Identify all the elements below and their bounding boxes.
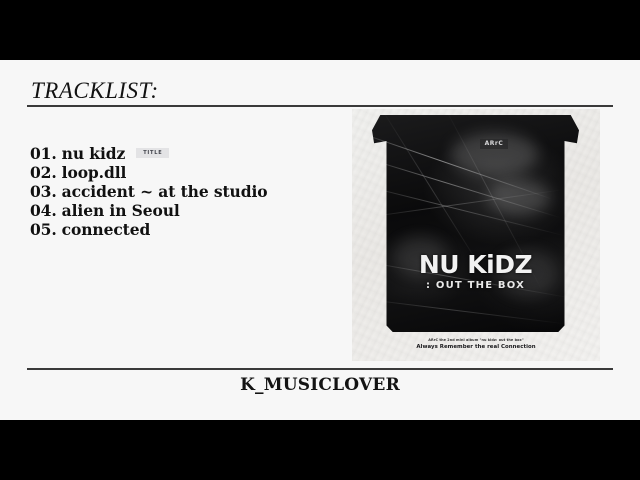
album-subtitle: : OUT THE BOX [372,280,579,291]
track-title: connected [62,220,151,239]
album-title: NU KiDZ [372,252,579,277]
track-title: alien in Seoul [62,201,180,220]
caption-tagline: Always Remember the real Connection [352,344,600,352]
track-title: accident ~ at the studio [62,182,268,201]
letterbox-bar-bottom [0,420,640,480]
caption-release-info: ARrC the 2nd mini album "nu kidz: out th… [352,338,600,343]
track-item[interactable]: 01. nu kidz TITLE [30,144,268,163]
letterbox-bar-top [0,0,640,60]
status-badge: TITLE [136,148,169,158]
divider-bottom [27,368,613,370]
track-number: 04. [30,201,57,220]
cover-caption: ARrC the 2nd mini album "nu kidz: out th… [352,338,600,352]
album-cover-image: ARrC NU KiDZ : OUT THE BOX ARrC the 2nd … [352,109,600,361]
video-frame: TRACKLIST: 01. nu kidz TITLE 02. loop.dl… [0,0,640,480]
channel-handle: K_MUSICLOVER [0,375,640,395]
tracklist-slide: TRACKLIST: 01. nu kidz TITLE 02. loop.dl… [0,60,640,420]
track-title: loop.dll [62,163,127,182]
track-item[interactable]: 04. alien in Seoul [30,201,268,220]
divider-top [27,105,613,107]
track-number: 01. [30,144,57,163]
fabric-highlight [488,180,550,215]
cover-title-block: NU KiDZ : OUT THE BOX [372,252,579,291]
fabric-crease [352,297,569,325]
page-title: TRACKLIST: [31,78,159,104]
garment-graphic: ARrC NU KiDZ : OUT THE BOX [372,115,579,332]
tracklist: 01. nu kidz TITLE 02. loop.dll 03. accid… [30,144,268,239]
track-title: nu kidz [62,144,126,163]
track-number: 02. [30,163,57,182]
brand-tag: ARrC [480,139,509,149]
track-number: 05. [30,220,57,239]
track-item[interactable]: 03. accident ~ at the studio [30,182,268,201]
track-number: 03. [30,182,57,201]
track-item[interactable]: 02. loop.dll [30,163,268,182]
track-item[interactable]: 05. connected [30,220,268,239]
